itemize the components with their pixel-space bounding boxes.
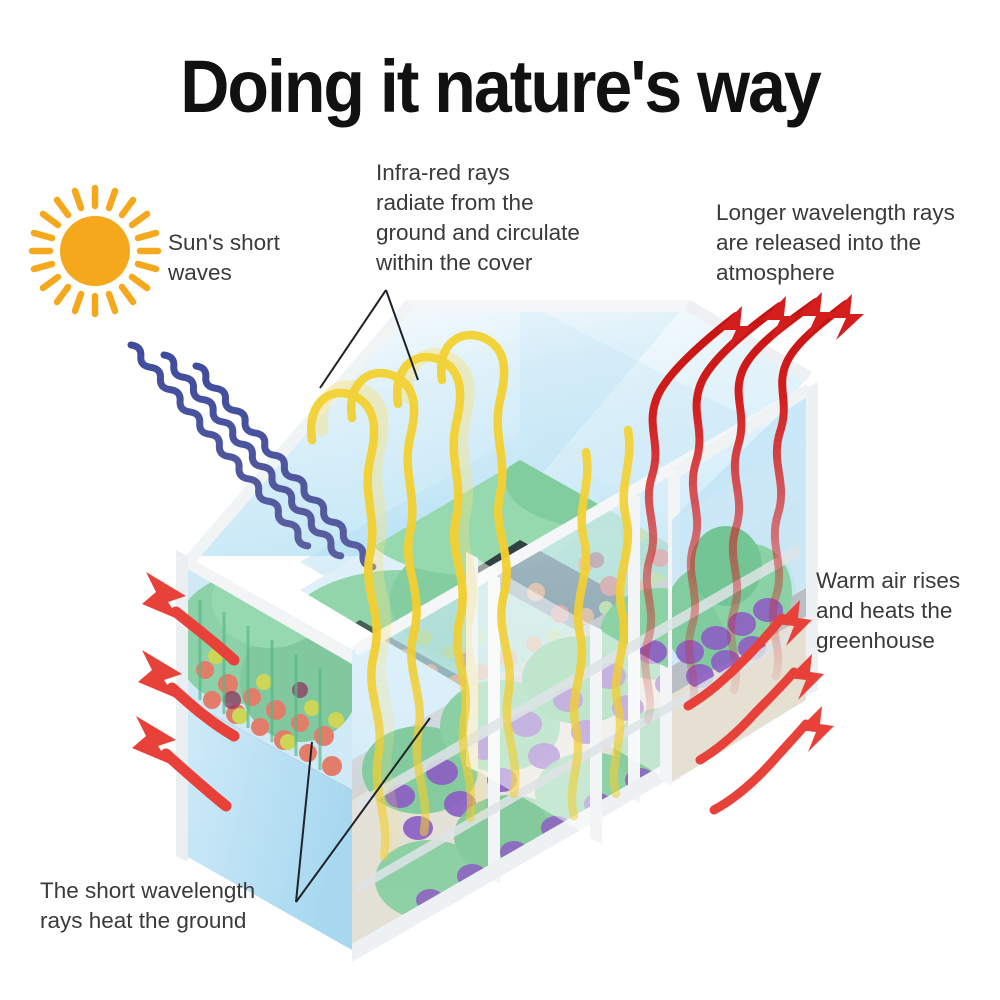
infographic-canvas: Doing it nature's way [0, 0, 1000, 1000]
sun-icon [32, 188, 158, 314]
caption-sun: Sun's short waves [168, 228, 280, 288]
greenhouse-illustration [0, 0, 1000, 1000]
roof-rail-back [406, 300, 694, 312]
caption-infrared: Infra-red rays radiate from the ground a… [376, 158, 580, 278]
caption-warm-air: Warm air rises and heats the greenhouse [816, 566, 960, 656]
caption-longer-wavelength: Longer wavelength rays are released into… [716, 198, 955, 288]
caption-short-wavelength: The short wavelength rays heat the groun… [40, 876, 255, 936]
